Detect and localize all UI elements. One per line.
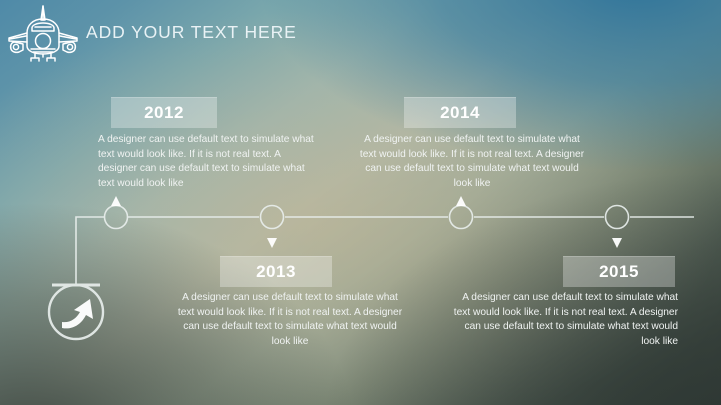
body-text-2012: A designer can use default text to simul… (98, 133, 316, 191)
timeline-node-2014 (450, 206, 473, 229)
body-text-2015: A designer can use default text to simul… (450, 291, 678, 349)
timeline-node-2013 (261, 206, 284, 229)
year-box-2014[interactable]: 2014 (404, 97, 516, 128)
year-box-2013[interactable]: 2013 (220, 256, 332, 287)
clock-circle (49, 285, 103, 339)
year-label-2012: 2012 (144, 103, 184, 123)
clock-arrow-icon (62, 299, 93, 328)
airplane-icon (5, 2, 81, 64)
body-text-2013: A designer can use default text to simul… (175, 291, 405, 349)
timeline-node-2012 (105, 206, 128, 229)
marker-down-2013 (267, 238, 277, 248)
year-label-2014: 2014 (440, 103, 480, 123)
year-label-2013: 2013 (256, 262, 296, 282)
marker-up-2012 (111, 196, 121, 206)
slide-canvas: ADD YOUR TEXT HERE (0, 0, 721, 405)
marker-up-2014 (456, 196, 466, 206)
body-text-2014: A designer can use default text to simul… (357, 133, 587, 191)
page-title: ADD YOUR TEXT HERE (86, 22, 297, 43)
timeline-node-2015 (606, 206, 629, 229)
marker-down-2015 (612, 238, 622, 248)
timeline-elbow (76, 217, 104, 285)
year-label-2015: 2015 (599, 262, 639, 282)
year-box-2015[interactable]: 2015 (563, 256, 675, 287)
year-box-2012[interactable]: 2012 (111, 97, 217, 128)
